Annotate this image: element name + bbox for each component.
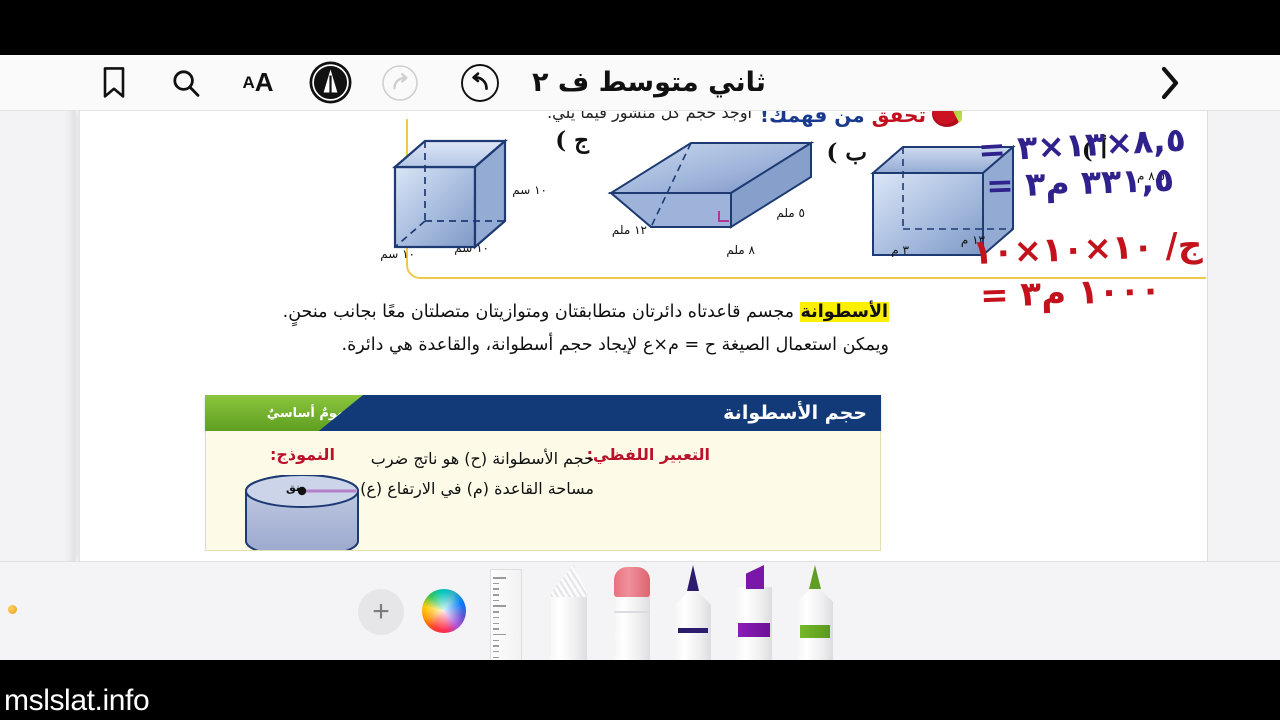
chevron-right-icon[interactable]: [1144, 55, 1196, 111]
screen: mslslat.info A A: [0, 0, 1280, 720]
verbal-line-1: حجم الأسطوانة (ح) هو ناتج ضرب: [371, 449, 594, 468]
concept-box-title: حجم الأسطوانة: [723, 402, 867, 424]
model-label: النموذج:: [270, 445, 335, 464]
dim-a-depth: ٣ م: [891, 243, 909, 257]
ruler-ticks: [493, 577, 509, 657]
font-size-small-letter: A: [242, 73, 254, 93]
reader-toolbar: A A: [0, 55, 1280, 111]
pencil-barrel: [551, 595, 587, 660]
pencil-tool[interactable]: [546, 565, 592, 660]
font-size-large-letter: A: [255, 67, 274, 98]
concept-ribbon-badge: مفهومٌ أساسيٌ: [205, 395, 363, 431]
eraser-tool[interactable]: [610, 567, 654, 660]
concept-box-body: التعبير اللفظي: حجم الأسطوانة (ح) هو نات…: [205, 431, 881, 551]
verbal-line-2: مساحة القاعدة (م) في الارتفاع (ع).: [355, 479, 594, 498]
search-icon[interactable]: [156, 55, 216, 111]
check-heading-subtitle: أوجد حجم كل منشور فيما يلي.: [547, 111, 752, 122]
pencil-tip: [551, 565, 587, 597]
color-picker[interactable]: [422, 589, 466, 633]
definition-line-2: ويمكن استعمال الصيغة ح = م×ع لإيجاد حجم …: [189, 330, 889, 361]
verbal-expression-text: حجم الأسطوانة (ح) هو ناتج ضرب مساحة القا…: [324, 444, 594, 504]
pen-tool[interactable]: [672, 565, 714, 660]
dim-b-base: ٨ ملم: [726, 243, 755, 257]
dim-c-height: ١٠ سم: [512, 183, 547, 197]
concept-box-header: حجم الأسطوانة مفهومٌ أساسيٌ: [205, 395, 881, 431]
page-title: ثاني متوسط ف ٢: [532, 67, 766, 98]
highlighter-tool[interactable]: [732, 565, 776, 660]
dim-c-depth: ١٠ سم: [380, 247, 415, 261]
figure-triangular-prism: [607, 131, 817, 261]
highlighted-term: الأسطوانة: [800, 302, 889, 322]
eraser-barrel: [614, 595, 650, 660]
concept-box: حجم الأسطوانة مفهومٌ أساسيٌ التعبير اللف…: [205, 395, 881, 551]
dim-c-width: ١٠ سم: [454, 241, 489, 255]
eraser-cap: [614, 567, 650, 597]
check-heading-red: تحقق: [872, 111, 926, 127]
pen-nib: [687, 565, 699, 591]
markup-tool-tray: +: [0, 561, 1280, 660]
font-size-icon[interactable]: A A: [228, 55, 288, 111]
check-heading-text: تحقق من فهمك!: [760, 111, 926, 127]
figure-label-c: ج ): [555, 127, 589, 154]
definition-paragraph: الأسطوانة مجسم قاعدتاه دائرتان متطابقتان…: [189, 297, 889, 361]
green-pen-color-band: [800, 625, 830, 638]
definition-line-1: مجسم قاعدتاه دائرتان متطابقتان ومتوازيتا…: [283, 302, 800, 322]
highlighter-color-band: [738, 623, 770, 637]
dim-a-length: ١٣ م: [961, 233, 985, 247]
letterbox-top: [0, 0, 1280, 55]
ruler-tool[interactable]: [484, 569, 528, 660]
highlighter-nib: [746, 565, 764, 589]
dim-b-height: ٥ ملم: [776, 206, 805, 220]
book-page-area[interactable]: تحقق من فهمك! أوجد حجم كل منشور فيما يلي…: [0, 111, 1280, 561]
green-pen-tool[interactable]: [794, 565, 836, 660]
check-heading-blue: من فهمك!: [760, 111, 865, 127]
figure-label-a: أ ): [1082, 137, 1107, 164]
page-edge-stack: [64, 111, 78, 561]
redo-arrow-icon: [370, 55, 430, 111]
device-viewport: A A: [0, 55, 1280, 660]
green-pen-nib: [809, 565, 821, 589]
eraser-seam: [614, 611, 650, 613]
letterbox-bottom: [0, 660, 1280, 720]
check-understanding-heading: تحقق من فهمك!: [760, 111, 962, 127]
cylinder-svg: [242, 475, 362, 551]
bookmark-icon[interactable]: [84, 55, 144, 111]
add-tool-button[interactable]: +: [358, 589, 404, 635]
book-page[interactable]: تحقق من فهمك! أوجد حجم كل منشور فيما يلي…: [78, 111, 1208, 561]
watermark-text: mslslat.info: [4, 684, 149, 718]
pen-color-band: [678, 628, 708, 633]
markup-pen-icon[interactable]: [298, 55, 362, 111]
figure-label-b: ب ): [826, 139, 867, 166]
concept-ribbon-label: مفهومٌ أساسيٌ: [267, 406, 363, 421]
dim-a-height: ٨,٥ م: [1137, 169, 1165, 183]
dim-b-length: ١٢ ملم: [612, 223, 647, 237]
plus-icon: +: [372, 599, 390, 625]
pen-barrel: [675, 587, 711, 660]
radius-label: نق: [286, 481, 300, 494]
unsaved-indicator-dot: [8, 605, 17, 614]
figure-cylinder-model: نق: [242, 475, 362, 551]
undo-arrow-icon[interactable]: [450, 55, 510, 111]
tool-list: +: [358, 562, 836, 660]
green-pen-barrel: [797, 585, 833, 660]
verbal-expression-label: التعبير اللفظي:: [587, 445, 710, 464]
checkmark-badge-icon: [932, 111, 962, 127]
